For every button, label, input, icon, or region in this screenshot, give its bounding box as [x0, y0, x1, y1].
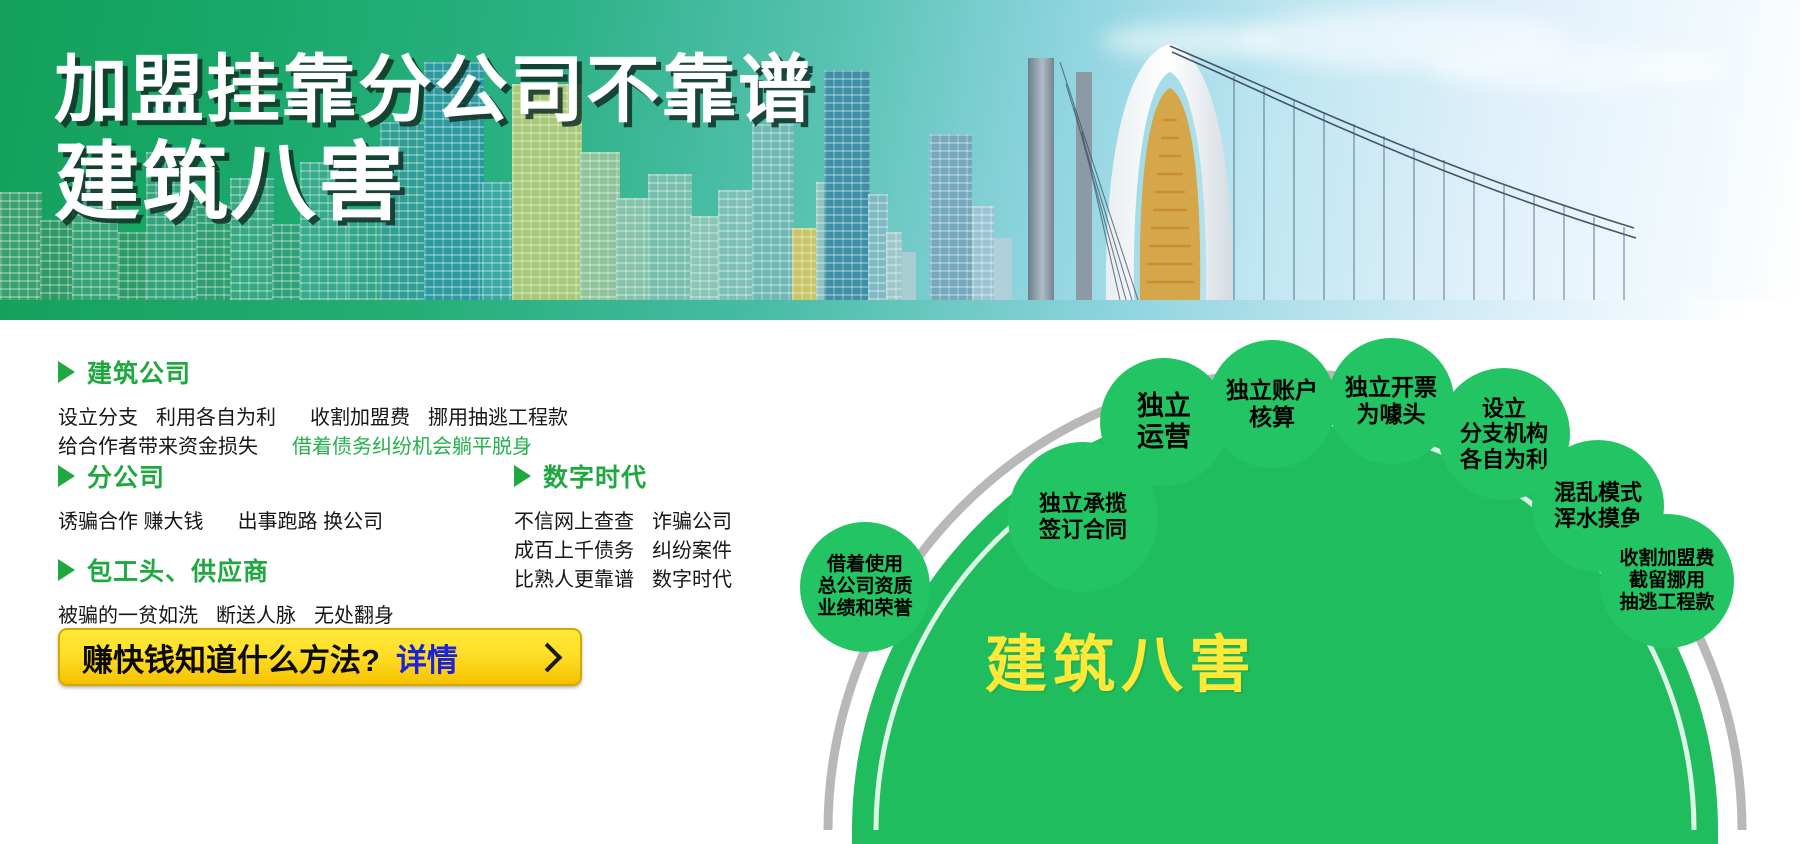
bubble-line: 为噱头	[1345, 401, 1437, 428]
bubble-diagram: 建筑八害 借着使用 总公司资质 业绩和荣誉 独立承揽 签订合同 独立 运营 独立…	[790, 330, 1800, 844]
section-body: 被骗的一贫如洗断送人脉无处翻身	[58, 602, 394, 631]
hero-bottom-strip	[0, 300, 1800, 320]
text-part: 设立分支	[58, 407, 138, 429]
bubble-line: 混乱模式	[1554, 480, 1642, 506]
section-line: 比熟人更靠谱数字时代	[514, 566, 732, 595]
hero-title-line-1: 加盟挂靠分公司不靠谱	[54, 52, 814, 129]
text-part: 给合作者带来资金损失	[58, 436, 258, 458]
left-content-column: 建筑公司 设立分支利用各自为利收割加盟费挪用抽逃工程款 给合作者带来资金损失借着…	[0, 336, 790, 844]
bubble-line: 分支机构	[1460, 421, 1548, 447]
triangle-right-icon	[58, 361, 75, 383]
text-part: 断送人脉	[216, 605, 296, 627]
bubble-line: 收割加盟费	[1619, 548, 1714, 570]
text-part: 纠纷案件	[652, 540, 732, 562]
triangle-right-icon	[58, 559, 75, 581]
section-contractor-supplier: 包工头、供应商 被骗的一贫如洗断送人脉无处翻身	[58, 552, 394, 631]
section-line: 诱骗合作 赚大钱出事跑路 换公司	[58, 508, 383, 537]
section-title: 数字时代	[543, 458, 647, 494]
bubble-line: 运营	[1137, 422, 1191, 453]
text-part: 利用各自为利	[156, 407, 276, 429]
bubble-line: 签订合同	[1039, 517, 1127, 543]
text-part: 比熟人更靠谱	[514, 569, 634, 591]
text-part: 收割加盟费	[310, 407, 410, 429]
hero-banner: 加盟挂靠分公司不靠谱 建筑八害	[0, 0, 1800, 320]
bubble-line: 独立承揽	[1039, 491, 1127, 517]
section-header: 建筑公司	[58, 354, 568, 390]
dome-label: 建筑八害	[985, 614, 1257, 704]
text-part: 数字时代	[652, 569, 732, 591]
text-part: 成百上千债务	[514, 540, 634, 562]
text-part: 被骗的一贫如洗	[58, 605, 198, 627]
section-body: 不信网上查查诈骗公司 成百上千债务纠纷案件 比熟人更靠谱数字时代	[514, 508, 732, 595]
section-title: 包工头、供应商	[87, 552, 269, 588]
bubble-line: 各自为利	[1460, 447, 1548, 473]
bubble-line: 设立	[1460, 396, 1548, 422]
bubble-item[interactable]: 借着使用 总公司资质 业绩和荣誉	[800, 522, 930, 652]
section-branch-company: 分公司 诱骗合作 赚大钱出事跑路 换公司	[58, 458, 383, 537]
bubble-line: 独立开票	[1345, 374, 1437, 401]
bubble-line: 业绩和荣誉	[817, 598, 912, 620]
cta-button[interactable]: 赚快钱知道什么方法? 详情	[58, 628, 582, 686]
cta-question-label: 赚快钱知道什么方法?	[82, 635, 380, 680]
section-line: 不信网上查查诈骗公司	[514, 508, 732, 537]
bubble-line: 截留挪用	[1619, 570, 1714, 592]
triangle-right-icon	[58, 465, 75, 487]
bubble-line: 总公司资质	[817, 576, 912, 598]
section-line: 设立分支利用各自为利收割加盟费挪用抽逃工程款	[58, 404, 568, 433]
bubble-item[interactable]: 独立 运营	[1100, 358, 1228, 486]
section-header: 分公司	[58, 458, 383, 494]
bubble-line: 独立	[1137, 391, 1191, 422]
bubble-line: 抽逃工程款	[1619, 592, 1714, 614]
hero-title-line-2: 建筑八害	[54, 139, 814, 228]
section-header: 包工头、供应商	[58, 552, 394, 588]
text-part: 不信网上查查	[514, 511, 634, 533]
section-body: 诱骗合作 赚大钱出事跑路 换公司	[58, 508, 383, 537]
section-digital-era: 数字时代 不信网上查查诈骗公司 成百上千债务纠纷案件 比熟人更靠谱数字时代	[514, 458, 732, 595]
section-header: 数字时代	[514, 458, 732, 494]
bubble-item[interactable]: 收割加盟费 截留挪用 抽逃工程款	[1600, 514, 1734, 648]
bridge-image	[1020, 32, 1640, 302]
text-part: 诈骗公司	[652, 511, 732, 533]
section-title: 建筑公司	[87, 354, 191, 390]
bubble-line: 借着使用	[817, 554, 912, 576]
section-line: 成百上千债务纠纷案件	[514, 537, 732, 566]
triangle-right-icon	[514, 465, 531, 487]
section-body: 设立分支利用各自为利收割加盟费挪用抽逃工程款 给合作者带来资金损失借着债务纠纷机…	[58, 404, 568, 462]
bubble-item[interactable]: 独立账户 核算	[1208, 340, 1336, 468]
hero-title-group: 加盟挂靠分公司不靠谱 建筑八害	[54, 52, 814, 228]
bubble-line: 核算	[1226, 404, 1318, 431]
text-part: 出事跑路 换公司	[238, 511, 384, 533]
text-part: 诱骗合作 赚大钱	[58, 511, 204, 533]
chevron-right-icon	[533, 642, 563, 672]
text-part-highlighted: 借着债务纠纷机会躺平脱身	[292, 436, 532, 458]
bubble-item[interactable]: 独立开票 为噱头	[1328, 338, 1454, 464]
bubble-line: 独立账户	[1226, 377, 1318, 404]
section-line: 被骗的一贫如洗断送人脉无处翻身	[58, 602, 394, 631]
section-title: 分公司	[87, 458, 165, 494]
text-part: 挪用抽逃工程款	[428, 407, 568, 429]
section-construction-company: 建筑公司 设立分支利用各自为利收割加盟费挪用抽逃工程款 给合作者带来资金损失借着…	[58, 354, 568, 462]
cta-details-link[interactable]: 详情	[396, 635, 458, 680]
poster-root: 加盟挂靠分公司不靠谱 建筑八害 建筑公司 设立分支利用各自为利收割加盟费挪用抽逃…	[0, 0, 1800, 844]
text-part: 无处翻身	[314, 605, 394, 627]
